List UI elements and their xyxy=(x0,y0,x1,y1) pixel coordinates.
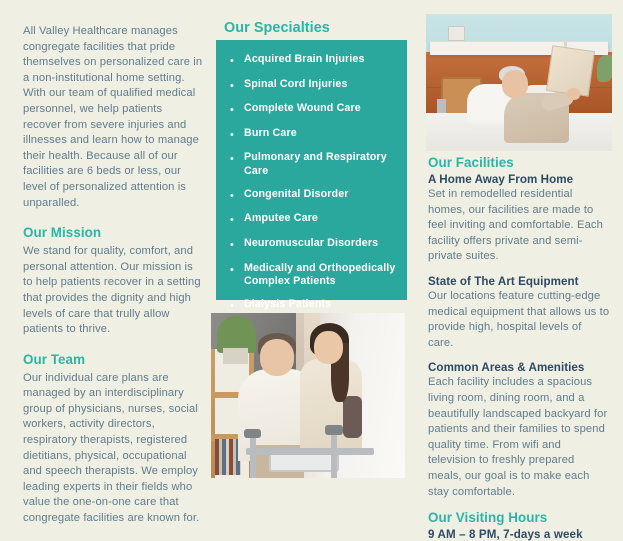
bullet-icon: • xyxy=(230,53,244,68)
facility-block-body: Set in remodelled residential homes, our… xyxy=(428,187,610,265)
specialty-item: •Medically and Orthopedically Complex Pa… xyxy=(230,262,397,289)
photo-reading-scene xyxy=(426,14,612,151)
facility-block-title: Common Areas & Amenities xyxy=(428,361,610,374)
bullet-icon: • xyxy=(230,102,244,117)
our-mission-body: We stand for quality, comfort, and perso… xyxy=(23,244,203,338)
photo-woman-reading xyxy=(426,14,612,151)
specialty-item: •Complete Wound Care xyxy=(230,102,397,117)
our-team-body: Our individual care plans are managed by… xyxy=(23,371,203,527)
specialty-label: Complete Wound Care xyxy=(244,102,397,115)
visiting-hours-heading: Our Visiting Hours xyxy=(428,510,610,525)
specialty-label: Burn Care xyxy=(244,127,397,140)
our-specialties-heading: Our Specialties xyxy=(224,20,414,36)
facility-block: Common Areas & AmenitiesEach facility in… xyxy=(428,361,610,500)
photo-walker-scene xyxy=(211,313,405,478)
specialty-item: •Dialysis Patients xyxy=(230,298,397,313)
bullet-icon: • xyxy=(230,127,244,142)
our-team-heading: Our Team xyxy=(23,352,203,367)
photo-nurse-with-resident xyxy=(211,313,405,478)
specialties-list: •Acquired Brain Injuries•Spinal Cord Inj… xyxy=(216,40,407,338)
bullet-icon: • xyxy=(230,78,244,93)
specialty-label: Medically and Orthopedically Complex Pat… xyxy=(244,262,397,289)
bullet-icon: • xyxy=(230,212,244,227)
specialty-label: Neuromuscular Disorders xyxy=(244,237,397,250)
right-column: Our Facilities A Home Away From HomeSet … xyxy=(428,155,610,541)
specialty-item: •Spinal Cord Injuries xyxy=(230,78,397,93)
specialty-item: •Congenital Disorder xyxy=(230,188,397,203)
specialty-label: Dialysis Patients xyxy=(244,298,397,311)
our-mission-heading: Our Mission xyxy=(23,225,203,240)
facility-block: A Home Away From HomeSet in remodelled r… xyxy=(428,173,610,265)
specialty-item: •Neuromuscular Disorders xyxy=(230,237,397,252)
brochure-page: All Valley Healthcare manages congregate… xyxy=(0,0,623,489)
bullet-icon: • xyxy=(230,188,244,203)
specialty-label: Pulmonary and Respiratory Care xyxy=(244,151,397,178)
specialty-label: Spinal Cord Injuries xyxy=(244,78,397,91)
specialty-label: Acquired Brain Injuries xyxy=(244,53,397,66)
specialty-item: •Burn Care xyxy=(230,127,397,142)
facility-block: State of The Art EquipmentOur locations … xyxy=(428,275,610,351)
facility-block-title: A Home Away From Home xyxy=(428,173,610,186)
bullet-icon: • xyxy=(230,151,244,166)
specialty-item: •Acquired Brain Injuries xyxy=(230,53,397,68)
intro-paragraph: All Valley Healthcare manages congregate… xyxy=(23,24,203,211)
bullet-icon: • xyxy=(230,298,244,313)
specialties-panel: •Acquired Brain Injuries•Spinal Cord Inj… xyxy=(216,40,407,300)
facility-block-body: Our locations feature cutting-edge medic… xyxy=(428,289,610,351)
our-facilities-heading: Our Facilities xyxy=(428,155,610,170)
specialty-label: Congenital Disorder xyxy=(244,188,397,201)
facility-blocks: A Home Away From HomeSet in remodelled r… xyxy=(428,173,610,500)
facility-block-title: State of The Art Equipment xyxy=(428,275,610,288)
specialty-item: •Pulmonary and Respiratory Care xyxy=(230,151,397,178)
specialty-label: Amputee Care xyxy=(244,212,397,225)
bullet-icon: • xyxy=(230,262,244,277)
visiting-hours-value: 9 AM – 8 PM, 7-days a week xyxy=(428,528,610,541)
bullet-icon: • xyxy=(230,237,244,252)
visiting-hours-block: Our Visiting Hours 9 AM – 8 PM, 7-days a… xyxy=(428,510,610,541)
facility-block-body: Each facility includes a spacious living… xyxy=(428,375,610,500)
left-column: All Valley Healthcare manages congregate… xyxy=(23,24,203,527)
specialty-item: •Amputee Care xyxy=(230,212,397,227)
